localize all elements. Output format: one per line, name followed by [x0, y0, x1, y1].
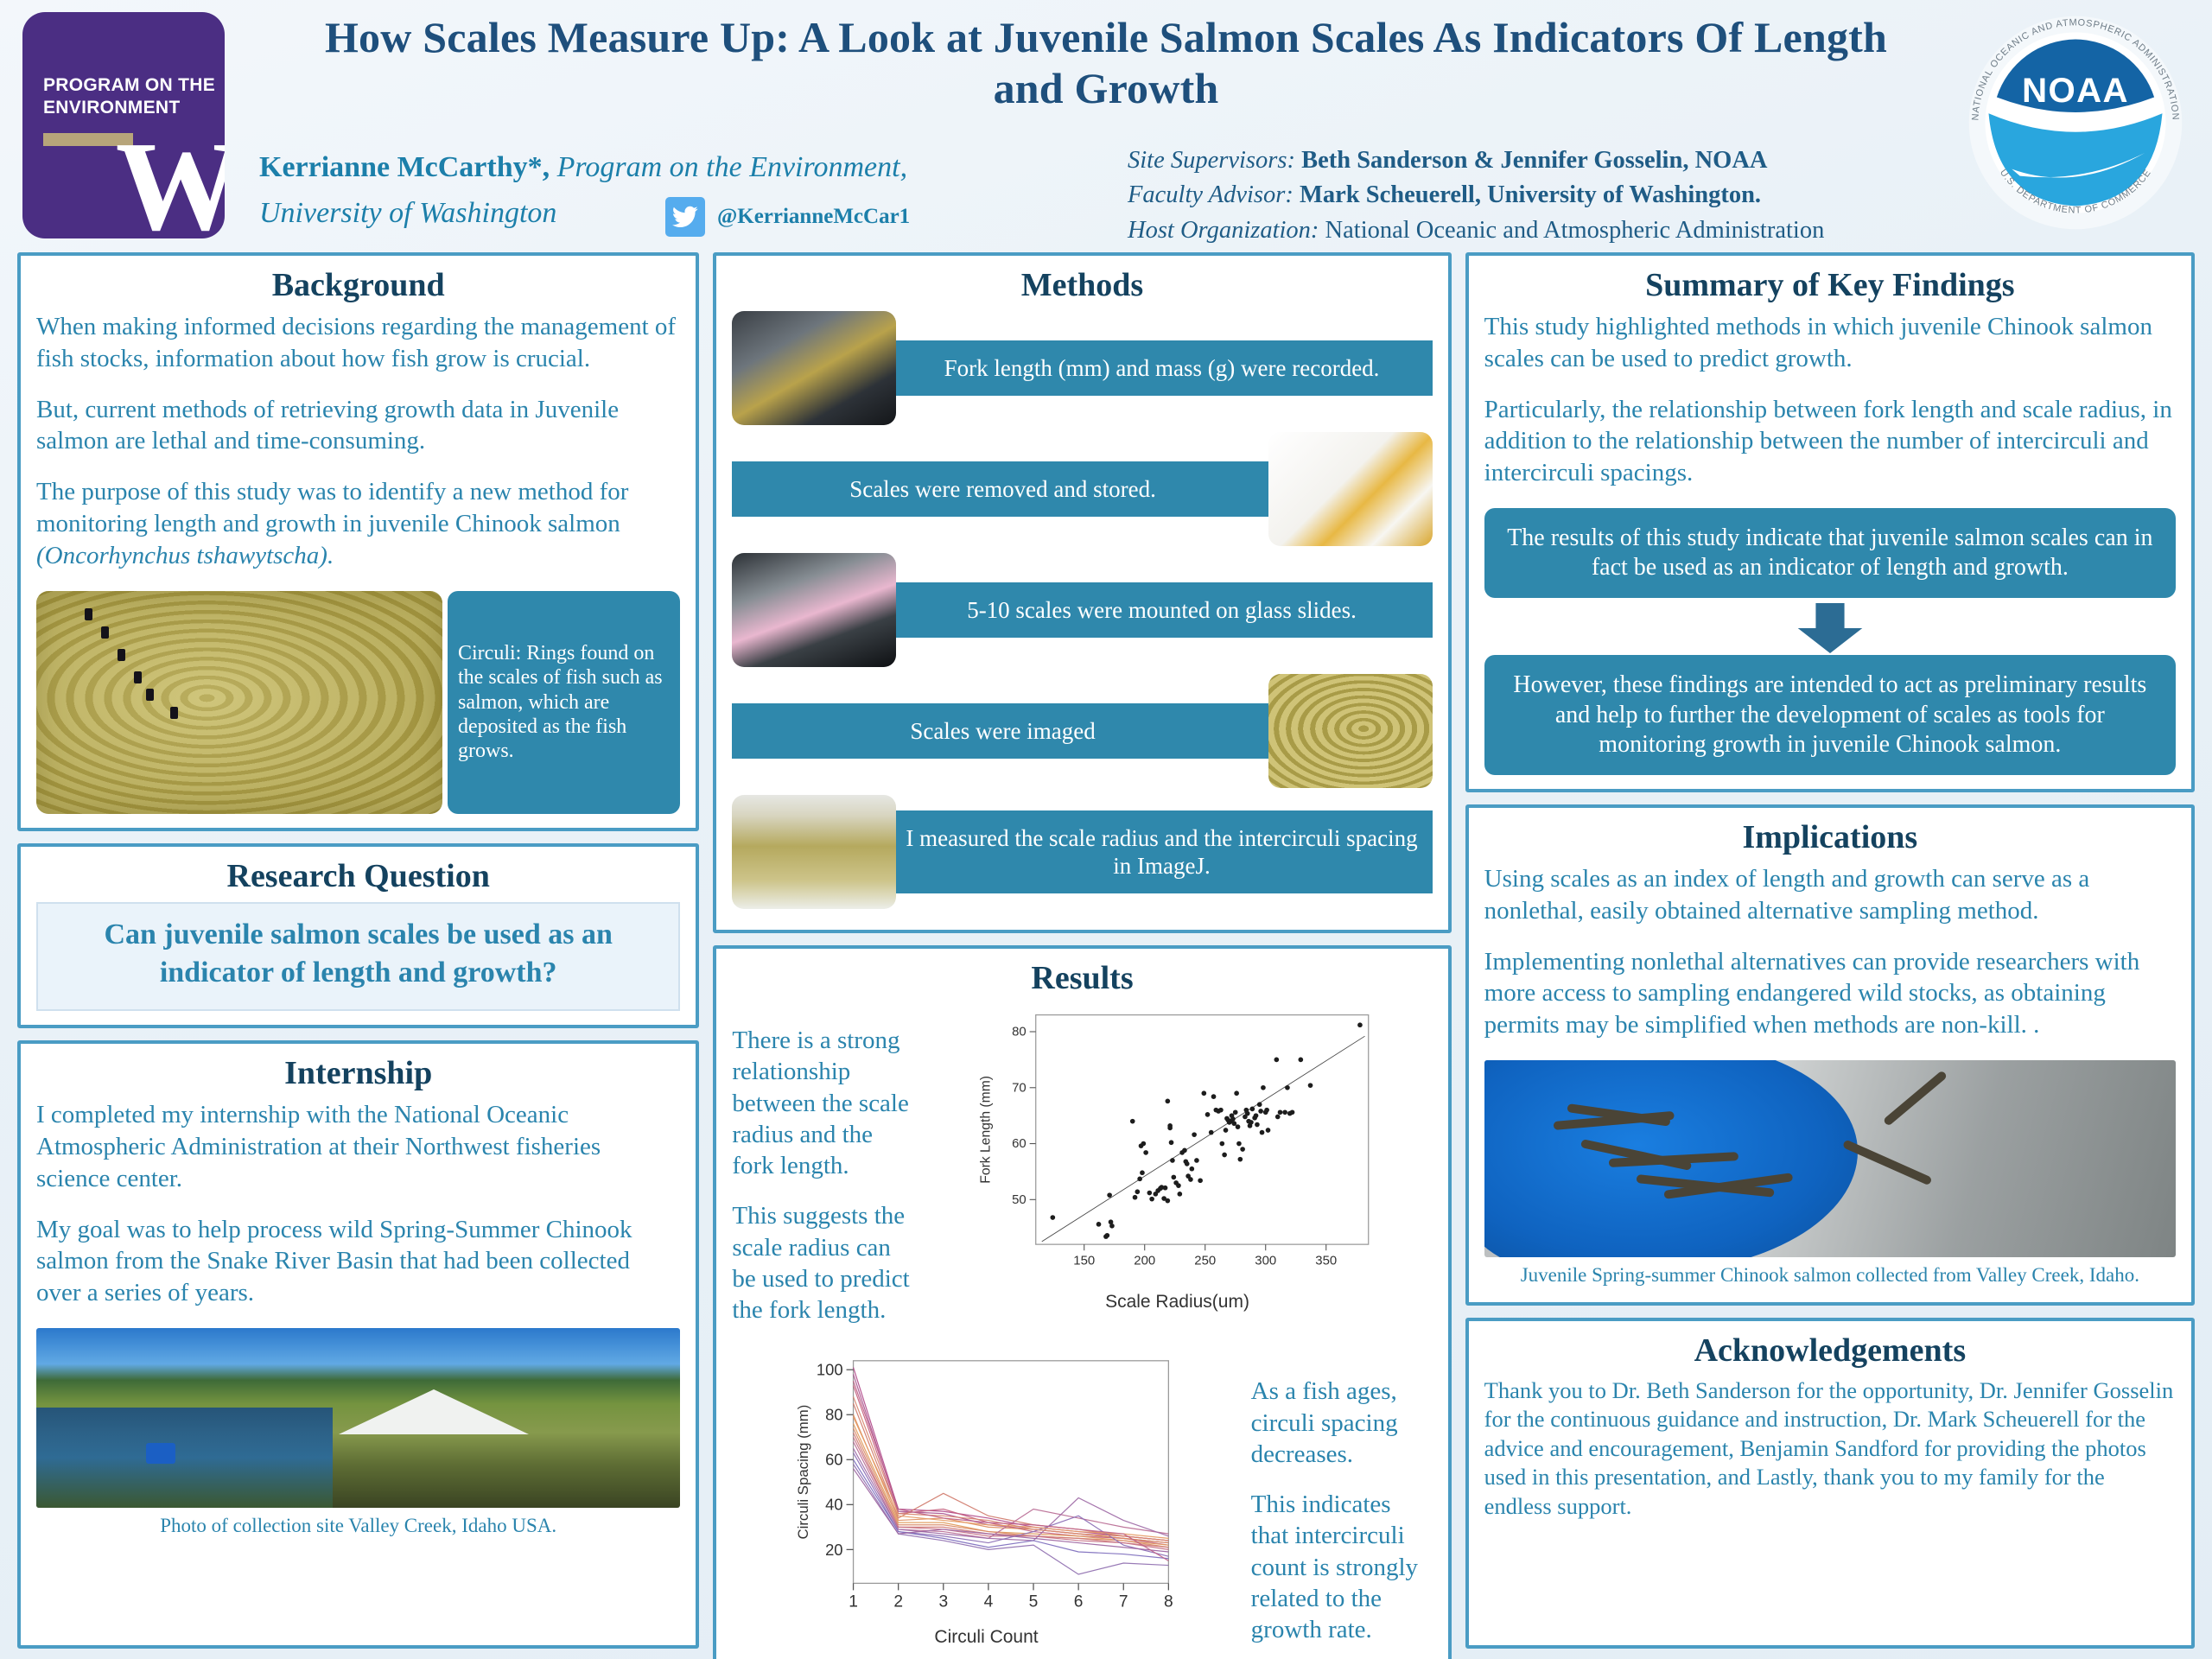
microscope-photo — [732, 553, 896, 667]
acknowledgements-text: Thank you to Dr. Beth Sanderson for the … — [1484, 1376, 2176, 1521]
svg-text:150: 150 — [1074, 1254, 1096, 1268]
species-binomial: (Oncorhynchus tshawytscha). — [36, 542, 334, 569]
supervisors-block: Site Supervisors: Beth Sanderson & Jenni… — [1128, 143, 2044, 248]
summary-callout-2: However, these findings are intended to … — [1484, 655, 2176, 774]
faculty-advisor-value: Mark Scheuerell, University of Washingto… — [1300, 181, 1761, 208]
left-column: Background When making informed decision… — [17, 252, 699, 1649]
methods-step-1: Fork length (mm) and mass (g) were recor… — [732, 311, 1432, 425]
site-supervisors-line: Site Supervisors: Beth Sanderson & Jenni… — [1128, 143, 2044, 178]
internship-paragraph-2: My goal was to help process wild Spring-… — [36, 1214, 680, 1309]
host-organization-line: Host Organization: National Oceanic and … — [1128, 213, 2044, 248]
author-affiliation-2: University of Washington — [259, 197, 556, 229]
juvenile-salmon-photo-caption: Juvenile Spring-summer Chinook salmon co… — [1484, 1257, 2176, 1288]
results-note-3: As a fish ages, circuli spacing decrease… — [1251, 1376, 1433, 1470]
results-note-1: There is a strong relationship between t… — [732, 1025, 913, 1181]
juvenile-salmon-bucket-photo — [1484, 1060, 2176, 1257]
host-organization-value: National Oceanic and Atmospheric Adminis… — [1325, 217, 1825, 244]
creek-water — [36, 1408, 333, 1508]
svg-text:70: 70 — [1012, 1080, 1027, 1095]
internship-panel: Internship I completed my internship wit… — [17, 1040, 699, 1649]
noaa-logo: NOAA NATIONAL OCEANIC AND ATMOSPHERIC AD… — [1960, 7, 2191, 238]
twitter-block[interactable]: @KerrianneMcCar1 — [665, 197, 910, 237]
right-column: Summary of Key Findings This study highl… — [1465, 252, 2195, 1649]
summary-panel: Summary of Key Findings This study highl… — [1465, 252, 2195, 792]
line-chart-container: 1234567820406080100Circuli Spacing (mm) … — [732, 1350, 1240, 1648]
methods-panel: Methods Fork length (mm) and mass (g) we… — [713, 252, 1451, 933]
scatter-chart-container: 15020025030035050607080Fork Length (mm) … — [922, 1004, 1432, 1313]
collection-site-photo — [36, 1328, 680, 1508]
implications-paragraph-1: Using scales as an index of length and g… — [1484, 863, 2176, 927]
poster-columns: Background When making informed decision… — [0, 252, 2212, 1659]
uw-logo-text: PROGRAM ON THE ENVIRONMENT — [43, 74, 215, 120]
svg-text:1: 1 — [849, 1593, 859, 1611]
scale-radius-vs-fork-length-scatter: 15020025030035050607080Fork Length (mm) — [922, 1004, 1432, 1289]
svg-text:60: 60 — [1012, 1136, 1027, 1151]
poster-root: PROGRAM ON THE ENVIRONMENT W How Scales … — [0, 0, 2212, 1659]
methods-step-2: Scales were removed and stored. — [732, 432, 1432, 546]
scatter-xlabel: Scale Radius(um) — [922, 1292, 1432, 1313]
svg-text:8: 8 — [1164, 1593, 1173, 1611]
results-notes-left: There is a strong relationship between t… — [732, 1004, 913, 1344]
down-arrow-icon — [1484, 603, 2176, 653]
twitter-handle[interactable]: @KerrianneMcCar1 — [717, 205, 910, 229]
noaa-wordmark: NOAA — [2022, 71, 2129, 110]
svg-text:50: 50 — [1012, 1192, 1027, 1207]
research-question-panel: Research Question Can juvenile salmon sc… — [17, 843, 699, 1028]
circuli-figure: Circuli: Rings found on the scales of fi… — [36, 591, 680, 814]
methods-step-3-label: 5-10 scales were mounted on glass slides… — [891, 582, 1432, 638]
methods-heading: Methods — [732, 266, 1432, 304]
results-heading: Results — [732, 959, 1432, 997]
svg-text:2: 2 — [894, 1593, 904, 1611]
poster-header: PROGRAM ON THE ENVIRONMENT W How Scales … — [0, 0, 2212, 252]
research-question-text: Can juvenile salmon scales be used as an… — [36, 902, 680, 1011]
uw-logo-line2: ENVIRONMENT — [43, 98, 180, 118]
methods-step-4-label: Scales were imaged — [732, 703, 1273, 759]
page-title: How Scales Measure Up: A Look at Juvenil… — [285, 12, 1927, 114]
svg-text:6: 6 — [1074, 1593, 1084, 1611]
acknowledgements-heading: Acknowledgements — [1484, 1332, 2176, 1370]
imagej-screenshot — [732, 795, 896, 909]
svg-text:Circuli Spacing (mm): Circuli Spacing (mm) — [795, 1405, 811, 1540]
internship-heading: Internship — [36, 1054, 680, 1092]
methods-step-5: I measured the scale radius and the inte… — [732, 795, 1432, 909]
middle-column: Methods Fork length (mm) and mass (g) we… — [713, 252, 1451, 1649]
uw-logo-line1: PROGRAM ON THE — [43, 75, 215, 95]
svg-text:250: 250 — [1195, 1254, 1217, 1268]
methods-step-4: Scales were imaged — [732, 674, 1432, 788]
methods-step-5-label: I measured the scale radius and the inte… — [891, 810, 1432, 894]
svg-text:300: 300 — [1255, 1254, 1277, 1268]
results-panel: Results There is a strong relationship b… — [713, 945, 1451, 1659]
results-notes-right: As a fish ages, circuli spacing decrease… — [1251, 1350, 1433, 1659]
circuli-spacing-vs-count-line-chart: 1234567820406080100Circuli Spacing (mm) — [732, 1350, 1240, 1626]
svg-text:80: 80 — [825, 1406, 842, 1424]
lab-bench-photo — [732, 311, 896, 425]
author-affiliation-1: Program on the Environment, — [557, 151, 907, 183]
svg-text:40: 40 — [825, 1496, 842, 1514]
results-note-2: This suggests the scale radius can be us… — [732, 1200, 913, 1325]
implications-panel: Implications Using scales as an index of… — [1465, 804, 2195, 1306]
research-question-heading: Research Question — [36, 857, 680, 895]
site-supervisors-label: Site Supervisors: — [1128, 147, 1295, 174]
results-line-row: 1234567820406080100Circuli Spacing (mm) … — [732, 1350, 1432, 1659]
methods-step-1-label: Fork length (mm) and mass (g) were recor… — [891, 340, 1432, 396]
svg-text:4: 4 — [984, 1593, 994, 1611]
methods-step-2-label: Scales were removed and stored. — [732, 461, 1273, 517]
uw-w-mark: W — [116, 123, 225, 238]
svg-text:20: 20 — [825, 1541, 842, 1559]
blue-barrel — [146, 1443, 175, 1464]
svg-text:200: 200 — [1135, 1254, 1156, 1268]
background-paragraph-3-text: The purpose of this study was to identif… — [36, 478, 628, 537]
summary-heading: Summary of Key Findings — [1484, 266, 2176, 304]
collection-site-photo-caption: Photo of collection site Valley Creek, I… — [36, 1508, 680, 1539]
svg-text:60: 60 — [825, 1451, 842, 1469]
methods-flowchart: Fork length (mm) and mass (g) were recor… — [732, 311, 1432, 909]
background-paragraph-1: When making informed decisions regarding… — [36, 311, 680, 375]
field-tent — [339, 1389, 529, 1434]
uw-program-on-environment-logo: PROGRAM ON THE ENVIRONMENT W — [22, 12, 225, 238]
svg-text:7: 7 — [1119, 1593, 1128, 1611]
methods-step-3: 5-10 scales were mounted on glass slides… — [732, 553, 1432, 667]
summary-paragraph-2: Particularly, the relationship between f… — [1484, 394, 2176, 489]
svg-text:350: 350 — [1316, 1254, 1338, 1268]
background-heading: Background — [36, 266, 680, 304]
internship-paragraph-1: I completed my internship with the Natio… — [36, 1099, 680, 1194]
faculty-advisor-line: Faculty Advisor: Mark Scheuerell, Univer… — [1128, 178, 2044, 213]
site-supervisors-value: Beth Sanderson & Jennifer Gosselin, NOAA — [1301, 147, 1767, 174]
svg-text:Fork Length (mm): Fork Length (mm) — [979, 1076, 994, 1184]
svg-text:80: 80 — [1012, 1025, 1027, 1039]
circuli-caption: Circuli: Rings found on the scales of fi… — [448, 591, 680, 814]
faculty-advisor-label: Faculty Advisor: — [1128, 181, 1294, 208]
line-xlabel: Circuli Count — [732, 1627, 1240, 1648]
scale-envelope-photo — [1268, 432, 1433, 546]
author-name: Kerrianne McCarthy*, — [259, 151, 550, 183]
svg-text:3: 3 — [939, 1593, 949, 1611]
twitter-icon — [665, 197, 705, 237]
summary-callout-1: The results of this study indicate that … — [1484, 508, 2176, 598]
summary-paragraph-1: This study highlighted methods in which … — [1484, 311, 2176, 375]
salmon-scale-circuli-photo — [36, 591, 442, 814]
svg-text:100: 100 — [817, 1361, 843, 1379]
svg-text:5: 5 — [1029, 1593, 1039, 1611]
background-paragraph-2: But, current methods of retrieving growt… — [36, 394, 680, 458]
implications-heading: Implications — [1484, 818, 2176, 856]
scale-image-photo — [1268, 674, 1433, 788]
results-note-4: This indicates that intercirculi count i… — [1251, 1489, 1433, 1645]
acknowledgements-panel: Acknowledgements Thank you to Dr. Beth S… — [1465, 1318, 2195, 1649]
background-paragraph-3: The purpose of this study was to identif… — [36, 476, 680, 571]
implications-paragraph-2: Implementing nonlethal alternatives can … — [1484, 946, 2176, 1041]
host-organization-label: Host Organization: — [1128, 217, 1319, 244]
background-panel: Background When making informed decision… — [17, 252, 699, 831]
results-scatter-row: There is a strong relationship between t… — [732, 1004, 1432, 1344]
